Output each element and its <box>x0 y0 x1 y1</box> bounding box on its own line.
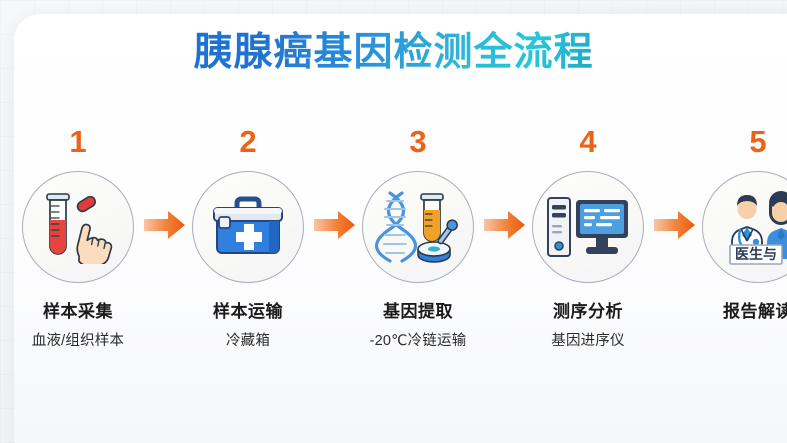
flow-step-5[interactable]: 5 <box>680 126 787 329</box>
flow-step-2[interactable]: 2 样本运输 冷藏箱 <box>170 126 326 350</box>
medical-cooler-box-icon <box>206 190 290 264</box>
dna-helix-test-tube-petri-dish-icon <box>374 189 462 265</box>
flow-step-4[interactable]: 4 <box>510 126 666 350</box>
page-title: 胰腺癌基因检测全流程 <box>193 30 593 76</box>
desktop-computer-analysis-icon <box>544 194 632 260</box>
step-title-5: 报告解读 <box>680 297 787 322</box>
step-icon-circle-3 <box>362 171 474 283</box>
step-title-1: 样本采集 <box>0 297 156 322</box>
step-icon-circle-1 <box>22 171 134 283</box>
step-number-5: 5 <box>680 126 787 162</box>
step-title-2: 样本运输 <box>170 297 326 322</box>
sign-text: 医生与 <box>735 246 777 262</box>
step-subtitle-3: -20℃冷链运输 <box>340 329 496 350</box>
step-subtitle-2: 冷藏箱 <box>170 329 326 350</box>
step-icon-circle-5: 医生与 <box>702 171 787 283</box>
step-number-1: 1 <box>0 126 156 162</box>
process-flow: 1 <box>0 126 787 386</box>
step-title-3: 基因提取 <box>340 297 496 322</box>
page-title-container: 胰腺癌基因检测全流程 <box>0 30 787 76</box>
step-number-2: 2 <box>170 126 326 162</box>
step-title-4: 测序分析 <box>510 297 666 322</box>
step-icon-circle-4 <box>532 171 644 283</box>
flow-step-3[interactable]: 3 <box>340 126 496 350</box>
step-icon-circle-2 <box>192 171 304 283</box>
step-number-4: 4 <box>510 126 666 162</box>
step-number-3: 3 <box>340 126 496 162</box>
flow-step-1[interactable]: 1 <box>0 126 156 350</box>
step-subtitle-1: 血液/组织样本 <box>0 329 156 350</box>
blood-test-tube-and-hand-icon <box>35 190 121 264</box>
doctor-and-patient-icon: 医生与 <box>712 189 787 265</box>
step-subtitle-4: 基因进序仪 <box>510 329 666 350</box>
